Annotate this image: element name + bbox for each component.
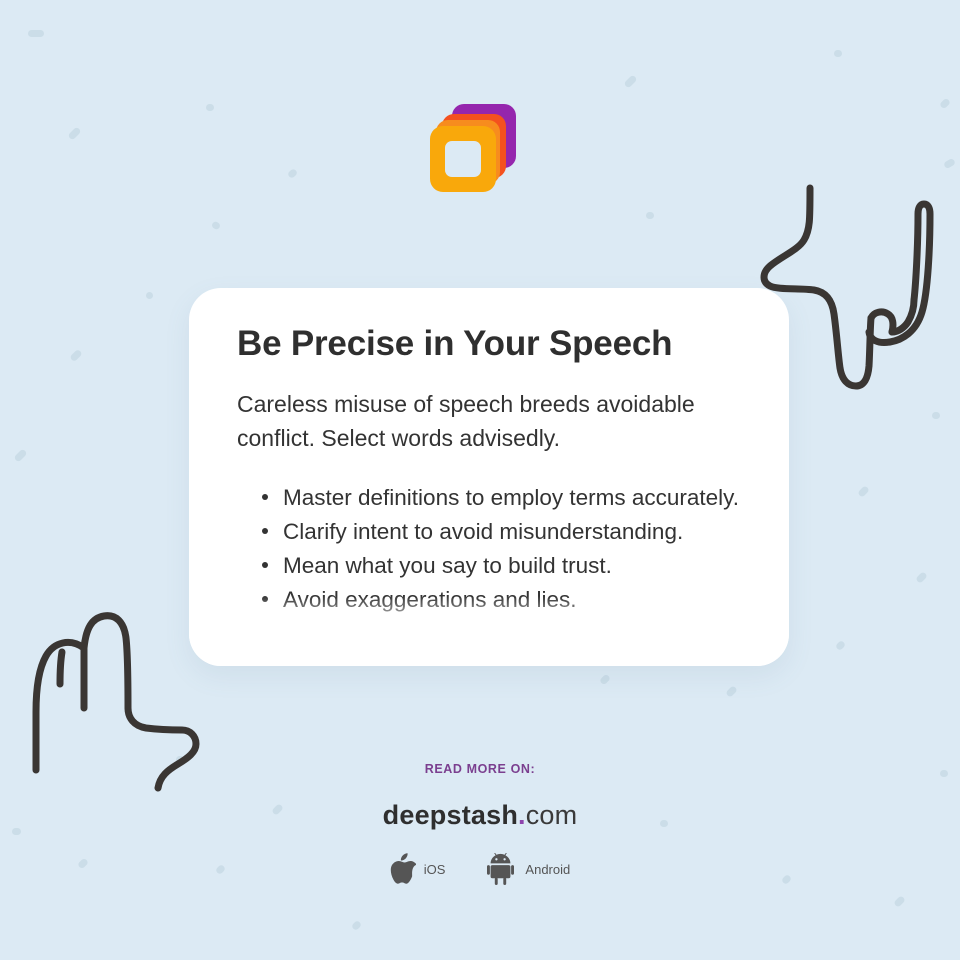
confetti-dash [835, 640, 846, 651]
confetti-dash [287, 168, 298, 179]
confetti-dash [932, 412, 940, 419]
card-description: Careless misuse of speech breeds avoidab… [237, 388, 737, 455]
idea-card: Be Precise in Your Speech Careless misus… [189, 288, 789, 666]
read-more-label: READ MORE ON: [0, 762, 960, 776]
confetti-dash [69, 349, 82, 362]
confetti-dash [857, 485, 870, 498]
confetti-dash [646, 212, 654, 219]
confetti-dash [939, 97, 951, 109]
poster-canvas: Be Precise in Your Speech Careless misus… [0, 0, 960, 960]
android-store-badge[interactable]: Android [487, 853, 570, 885]
page-title: Be Precise in Your Speech [237, 324, 741, 364]
brand-dot: . [518, 800, 526, 830]
confetti-dash [351, 920, 362, 931]
brand-name: deepstash [383, 800, 518, 830]
list-item: Avoid exaggerations and lies. [259, 583, 741, 616]
list-item: Master definitions to employ terms accur… [259, 481, 741, 514]
card-bullet-list: Master definitions to employ terms accur… [237, 481, 741, 616]
confetti-dash [834, 50, 842, 57]
confetti-dash [915, 571, 928, 584]
footer: READ MORE ON: deepstash.com iOS [0, 762, 960, 885]
deepstash-logo[interactable] [428, 104, 520, 198]
confetti-dash [146, 292, 153, 299]
confetti-dash [206, 104, 214, 111]
logo-square-cutout [445, 141, 481, 177]
confetti-dash [725, 685, 738, 698]
confetti-dash [67, 126, 81, 140]
confetti-dash [623, 74, 637, 88]
confetti-dash [13, 448, 27, 462]
app-store-badges: iOS Android [0, 853, 960, 885]
apple-icon [390, 853, 416, 885]
confetti-dash [28, 30, 44, 37]
confetti-dash [211, 220, 221, 230]
brand-tld: com [526, 800, 578, 830]
confetti-dash [893, 895, 906, 908]
brand-wordmark[interactable]: deepstash.com [0, 800, 960, 831]
hand-pointing-up-illustration [18, 552, 218, 792]
idea-card-content: Be Precise in Your Speech Careless misus… [189, 288, 789, 616]
ios-store-badge[interactable]: iOS [390, 853, 446, 885]
confetti-dash [943, 158, 956, 170]
android-store-label: Android [525, 862, 570, 877]
android-icon [487, 853, 517, 885]
ios-store-label: iOS [424, 862, 446, 877]
list-item: Mean what you say to build trust. [259, 549, 741, 582]
list-item: Clarify intent to avoid misunderstanding… [259, 515, 741, 548]
confetti-dash [599, 673, 611, 685]
